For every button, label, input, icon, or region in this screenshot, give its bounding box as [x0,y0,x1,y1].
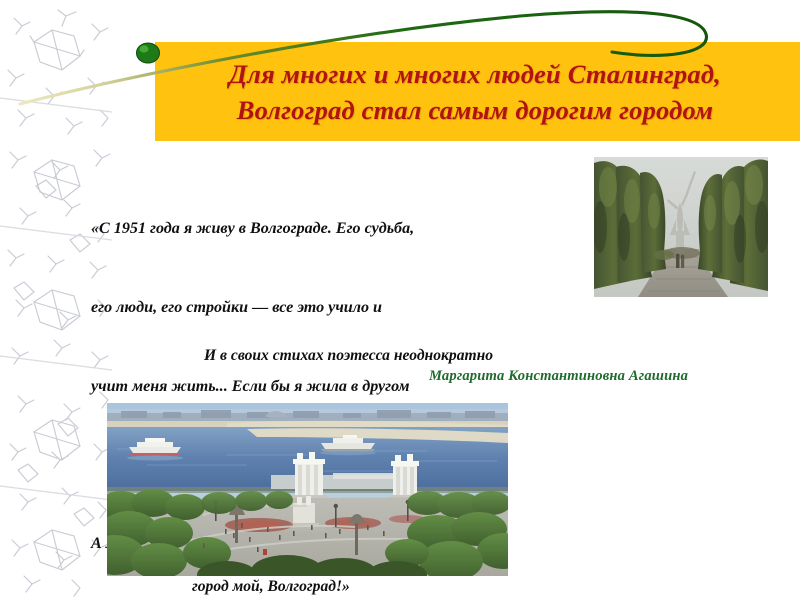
author-attribution: Маргарита Константиновна Агашина [429,368,688,385]
photo-embankment-graphic [107,403,508,576]
quote-secondary-line-4: город мой, Волгоград!» [178,574,500,600]
page-title: Для многих и многих людей Сталинград, Во… [150,44,800,140]
photo-volgograd-embankment [107,403,508,576]
quote-main-line-1: «С 1951 года я живу в Волгограде. Его су… [91,216,414,242]
quote-secondary-line-1: И в своих стихах поэтесса неоднократно [178,343,500,369]
title-line-1: Для многих и многих людей Сталинград, [229,56,721,92]
slide-canvas: Для многих и многих людей Сталинград, Во… [0,0,800,600]
title-line-2: Волгоград стал самым дорогим городом [237,92,714,128]
green-bead-highlight [140,45,149,52]
photo-mamayev-kurgan-alley [594,157,768,297]
photo-alley-graphic [594,157,768,297]
